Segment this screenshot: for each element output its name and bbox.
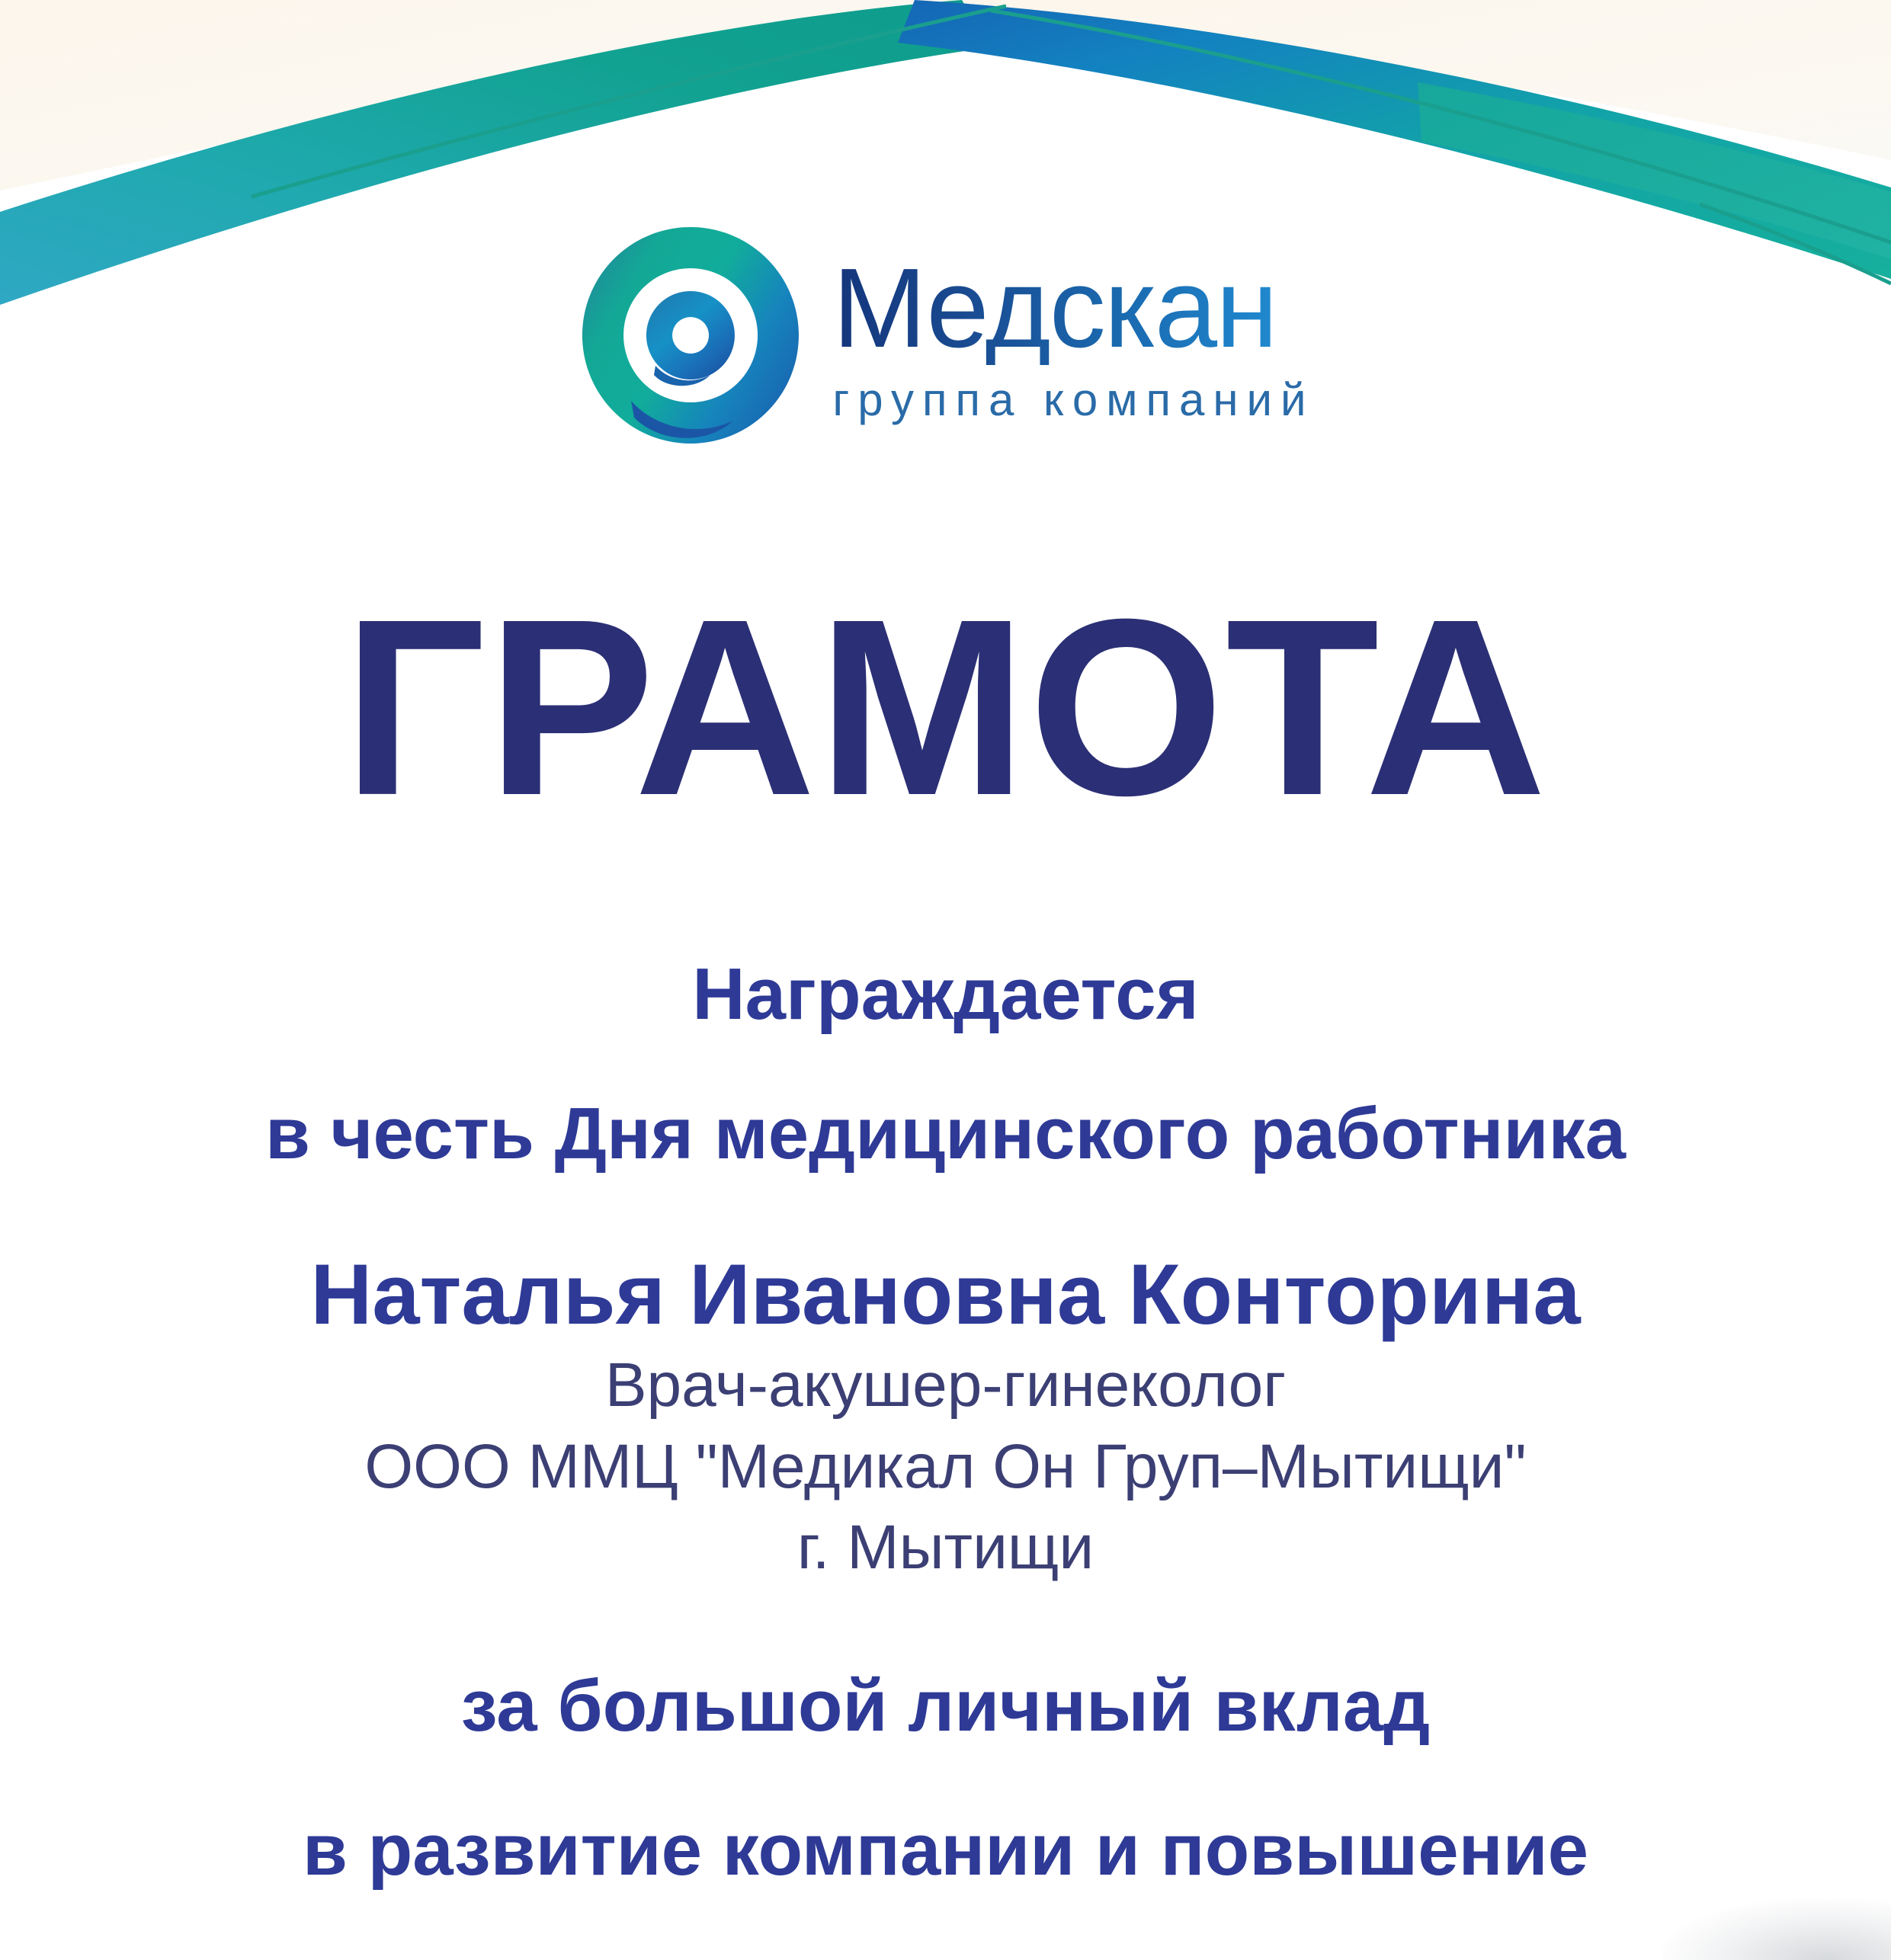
brand-logo: Медскан группа компаний (0, 221, 1891, 450)
brand-wordmark: Медскан (832, 252, 1276, 365)
recipient-block: Наталья Ивановна Конторина Врач-акушер-г… (0, 1244, 1891, 1589)
cream-wash-right (945, 0, 1891, 160)
brand-tagline: группа компаний (832, 377, 1314, 423)
merit-block: за большой личный вклад в развитие компа… (0, 1662, 1891, 1960)
merit-line-1: за большой личный вклад (0, 1662, 1891, 1750)
logo-inner-ring (646, 291, 735, 380)
merit-line-3: эффективности бизнеса (0, 1950, 1891, 1960)
recipient-position: Врач-акушер-гинеколог (0, 1345, 1891, 1427)
certificate-page: Медскан группа компаний ГРАМОТА Награжда… (0, 0, 1891, 1960)
award-intro: Награждается в честь Дня медицинского ра… (0, 950, 1891, 1177)
page-title: ГРАМОТА (0, 579, 1891, 836)
logo-outer-ring (582, 227, 799, 444)
brand-logo-text: Медскан группа компаний (832, 252, 1314, 423)
recipient-name: Наталья Ивановна Конторина (0, 1244, 1891, 1345)
award-intro-line-1: Награждается (0, 950, 1891, 1038)
recipient-city: г. Мытищи (0, 1507, 1891, 1589)
cream-wash-left (0, 0, 945, 191)
wave-hairline-center (252, 6, 1006, 197)
award-intro-line-2: в честь Дня медицинского работника (0, 1090, 1891, 1177)
recipient-organization: ООО ММЦ "Медикал Он Груп–Мытищи" (0, 1427, 1891, 1508)
medskan-spiral-logo-icon (576, 221, 805, 450)
certificate-body: ГРАМОТА Награждается в честь Дня медицин… (0, 579, 1891, 1960)
wave-hairline-right-a (991, 11, 1891, 242)
merit-line-2: в развитие компании и повышение (0, 1806, 1891, 1894)
